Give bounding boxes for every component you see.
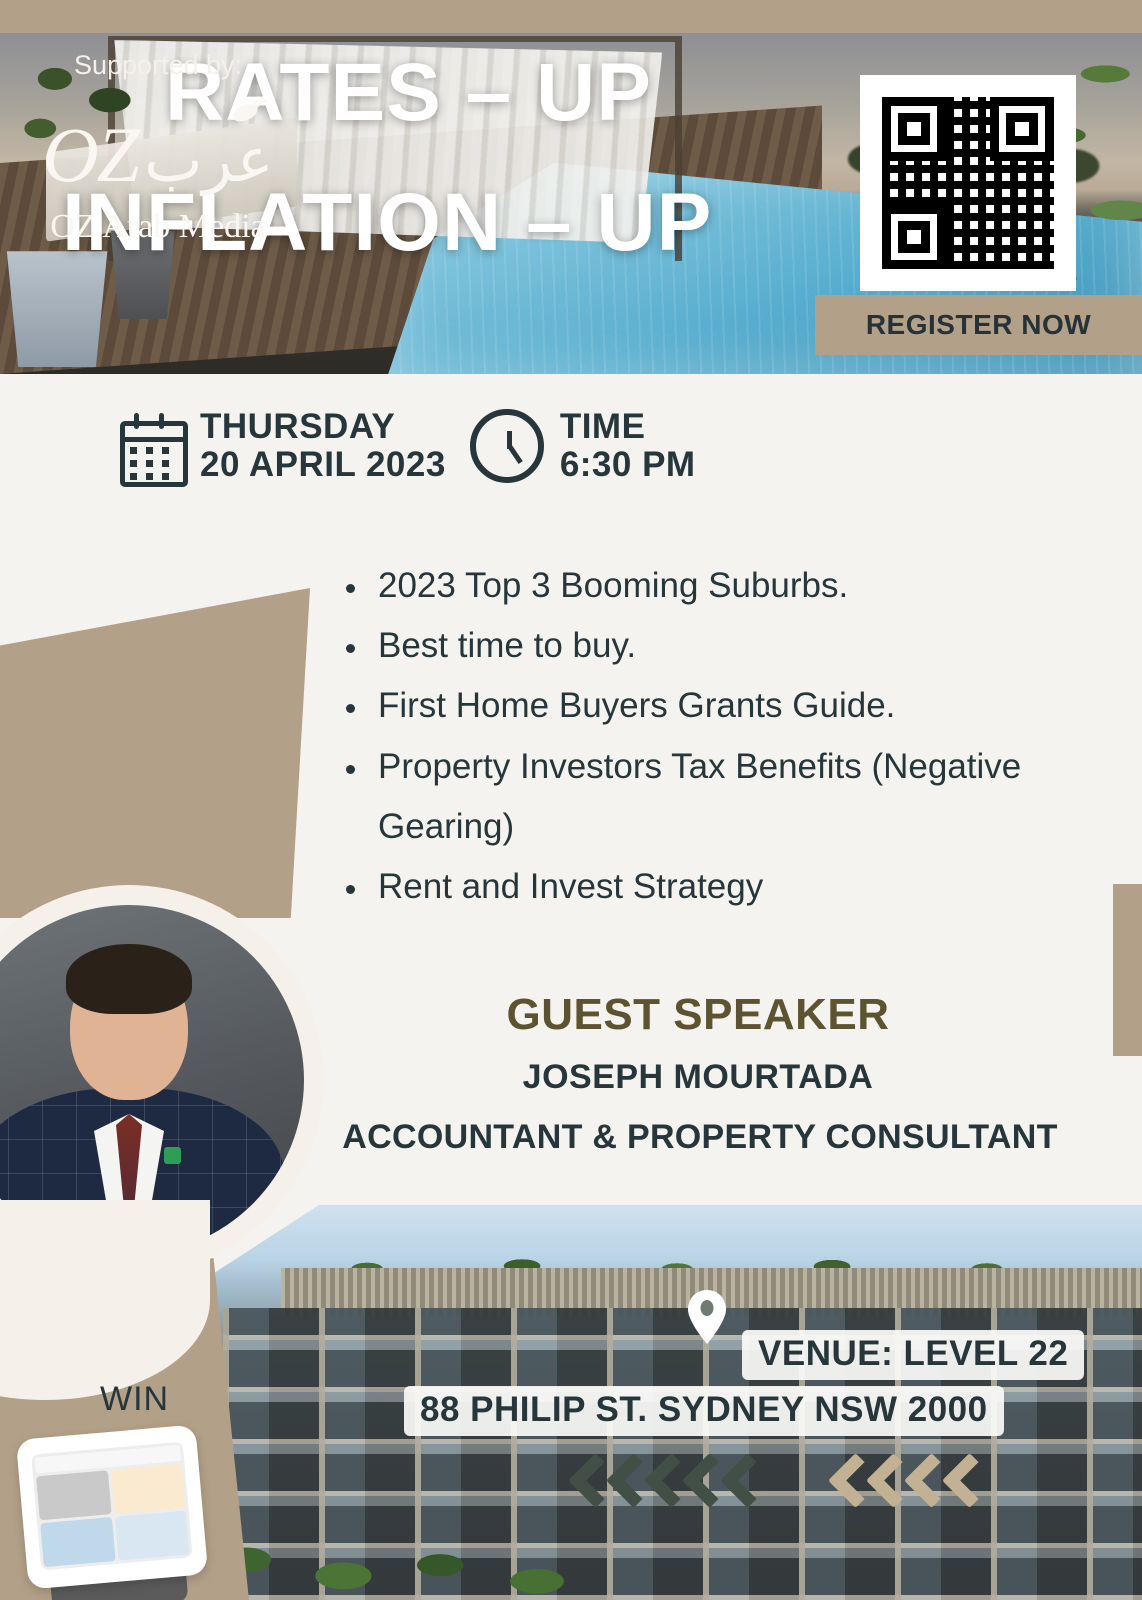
smart-display-prize [16,1424,208,1589]
chevron-left-icon [570,1455,606,1519]
right-accent-bar [1113,884,1142,1056]
satellite-dish-icon [230,96,268,124]
venue-line-1: VENUE: LEVEL 22 [742,1330,1084,1380]
register-now-label: REGISTER NOW [866,309,1091,341]
chevron-group-dark [570,1455,758,1519]
smart-display-card-lights [110,1464,185,1514]
event-date-block: THURSDAY 20 APRIL 2023 [120,408,446,484]
event-time-text: TIME 6:30 PM [560,408,696,484]
win-label: WIN [100,1380,169,1419]
oz-arab-media-name: OZ Arab Media [8,208,308,246]
smart-display-card-weather [40,1517,115,1567]
calendar-icon [120,413,184,479]
chevron-group-tan [830,1455,980,1519]
list-item: Property Investors Tax Benefits (Negativ… [338,737,1058,857]
sponsor-panel [0,588,310,918]
qr-finder-bottom-left [882,205,946,269]
location-pin-icon [686,1288,728,1346]
topics-list: 2023 Top 3 Booming Suburbs. Best time to… [338,556,1058,917]
venue-address-text: 88 PHILIP ST. SYDNEY NSW 2000 [420,1390,988,1429]
venue-level-text: VENUE: LEVEL 22 [758,1334,1068,1373]
event-time-block: TIME 6:30 PM [470,408,696,484]
oz-arab-media-logo: OZعرب [8,90,308,220]
smart-display-ui [31,1442,193,1571]
speaker-hair [66,944,192,1014]
event-date: 20 APRIL 2023 [200,446,446,484]
smart-display-card-camera [36,1470,111,1520]
chevron-left-icon [608,1455,644,1519]
venue-line-2: 88 PHILIP ST. SYDNEY NSW 2000 [404,1386,1004,1436]
list-item: Best time to buy. [338,616,1058,676]
clock-icon [470,409,544,483]
chevron-left-icon [684,1455,720,1519]
oz-logo-latin: OZ [42,111,138,198]
chevron-left-icon [722,1455,758,1519]
list-item: Rent and Invest Strategy [338,857,1058,917]
event-day: THURSDAY [200,408,446,446]
chevron-left-icon [944,1455,980,1519]
event-datetime: THURSDAY 20 APRIL 2023 TIME 6:30 PM [120,408,696,484]
event-date-text: THURSDAY 20 APRIL 2023 [200,408,446,484]
supported-by-label: Supported by: [8,50,308,81]
guest-speaker-name: JOSEPH MOURTADA [338,1058,1058,1097]
chevron-left-icon [646,1455,682,1519]
speaker-lapel-pin [164,1147,181,1164]
guest-speaker-title: GUEST SPEAKER [338,990,1058,1040]
oz-logo-arabic: عرب [144,123,274,196]
building-street-trees [185,1466,625,1600]
event-time-value: 6:30 PM [560,446,696,484]
oz-logo-mark: OZعرب [42,110,273,200]
register-now-button[interactable]: REGISTER NOW [815,295,1142,355]
list-item: First Home Buyers Grants Guide. [338,676,1058,736]
chevron-left-icon [868,1455,904,1519]
smart-display-card-climate [114,1511,189,1561]
guest-speaker-role: ACCOUNTANT & PROPERTY CONSULTANT [300,1118,1100,1157]
event-flyer: RATES – UP INFLATION – UP REGISTER NOW T… [0,0,1142,1600]
event-time-label: TIME [560,408,696,446]
smart-display-screen [16,1424,208,1589]
chevron-left-icon [906,1455,942,1519]
list-item: 2023 Top 3 Booming Suburbs. [338,556,1058,616]
chevron-left-icon [830,1455,866,1519]
qr-code-pattern [882,97,1054,269]
qr-code[interactable] [860,75,1076,291]
